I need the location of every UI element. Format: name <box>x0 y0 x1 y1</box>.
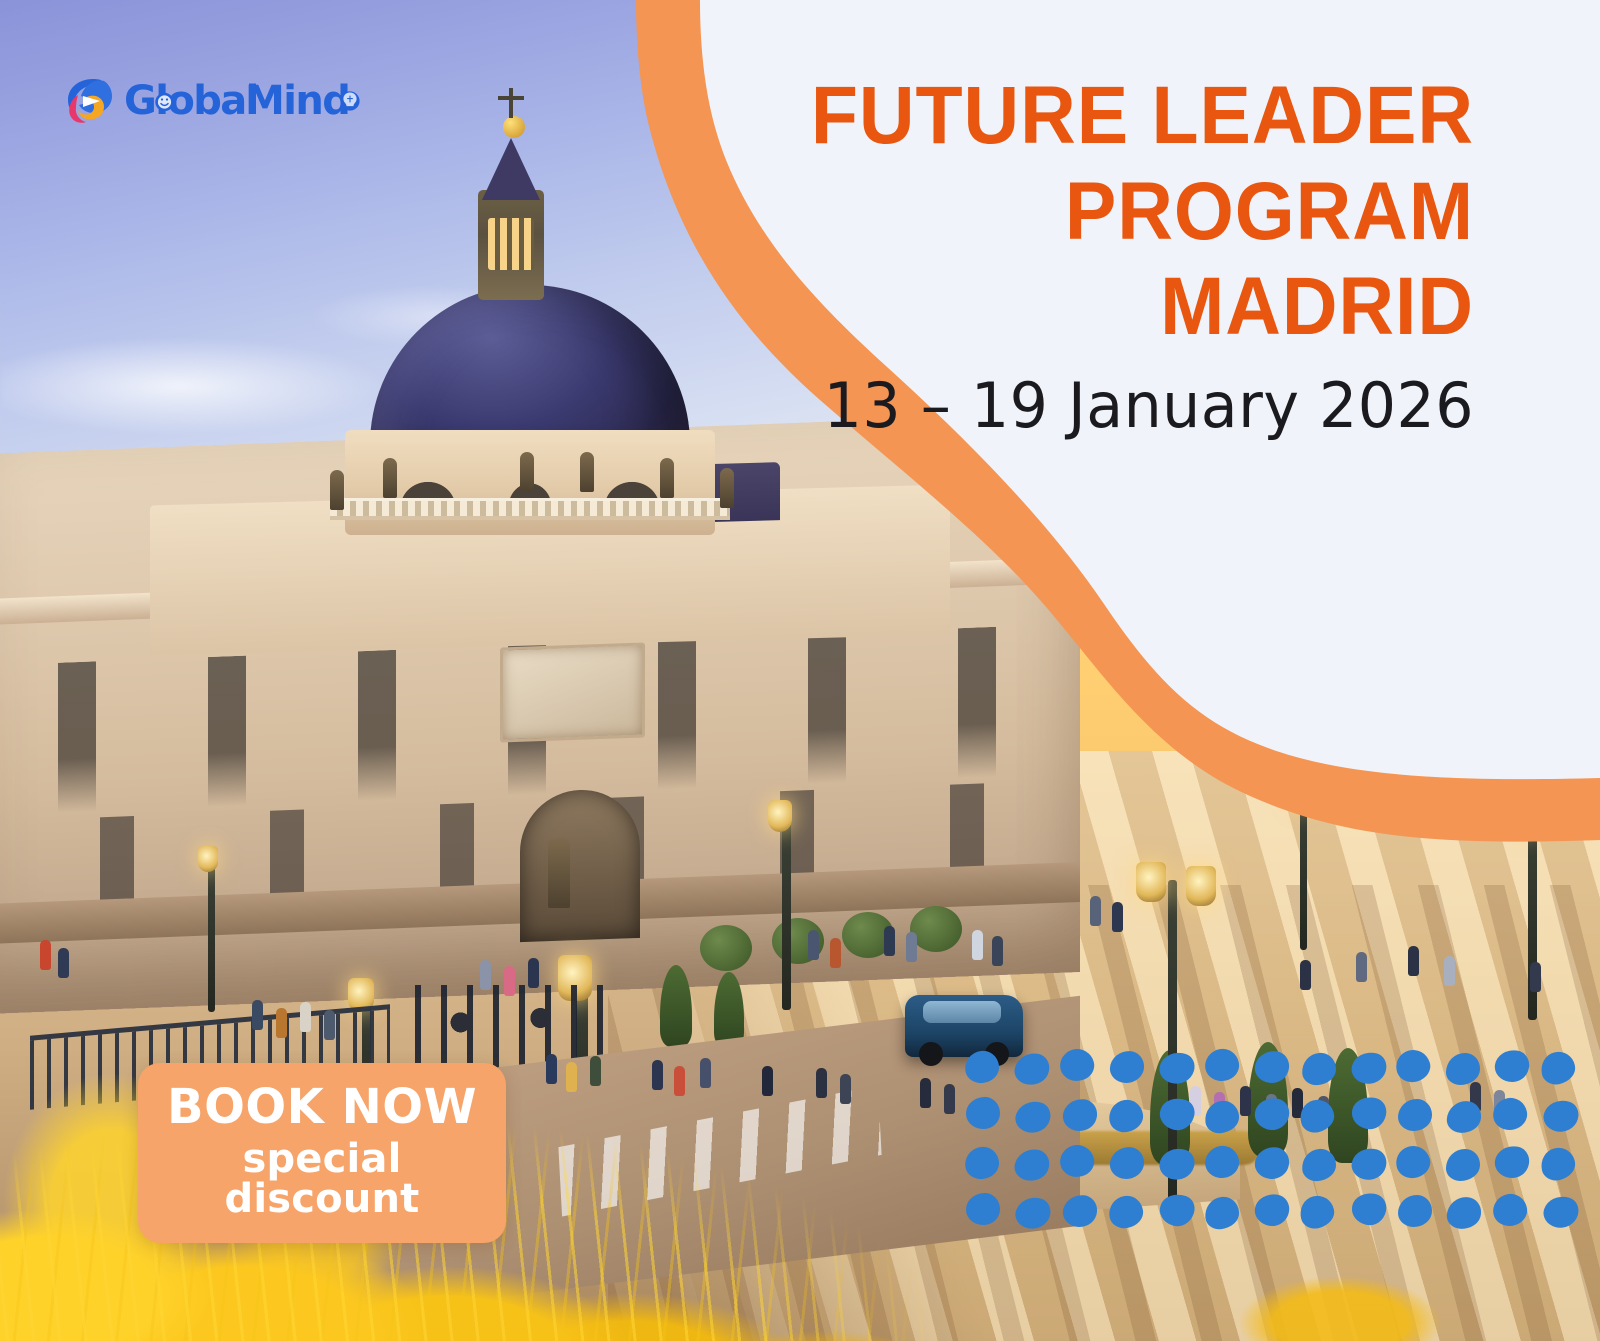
dot-grid-decoration <box>966 1051 1600 1271</box>
dot <box>1106 1097 1145 1134</box>
lightbulb-brain-icon <box>340 91 359 110</box>
dot <box>1297 1097 1338 1136</box>
dot <box>1349 1190 1389 1229</box>
promotional-poster: Global Mind FUTURE LEADER PROGRAM <box>0 0 1600 1341</box>
dot <box>1253 1095 1292 1132</box>
dot <box>1253 1049 1290 1085</box>
dot <box>1398 1099 1432 1131</box>
headline-line-2: PROGRAM <box>760 170 1474 254</box>
headline-block: FUTURE LEADER PROGRAM MADRID 13 – 19 Jan… <box>714 74 1474 442</box>
dot <box>963 1048 1001 1084</box>
dot <box>1253 1191 1292 1228</box>
dot <box>965 1193 1000 1226</box>
dot <box>1348 1144 1389 1183</box>
dot <box>1490 1191 1530 1229</box>
dot <box>1061 1098 1098 1133</box>
headline-line-3: MADRID <box>760 265 1474 349</box>
dot <box>1446 1149 1480 1181</box>
dot <box>1204 1099 1241 1134</box>
globalmind-logo[interactable]: Global Mind <box>60 72 370 130</box>
book-now-badge[interactable]: BOOK NOW special discount <box>138 1063 506 1243</box>
dot <box>1202 1047 1241 1085</box>
dot <box>1446 1053 1480 1085</box>
dot <box>1106 1193 1145 1230</box>
dot <box>1110 1146 1146 1180</box>
dot <box>1156 1189 1198 1230</box>
dot <box>1061 1193 1098 1228</box>
dot <box>1398 1195 1432 1227</box>
dot <box>1204 1195 1241 1230</box>
globalmind-g-swoosh-icon <box>60 72 118 130</box>
dot <box>1392 1046 1434 1087</box>
dot <box>1156 1144 1198 1185</box>
dot <box>1537 1049 1577 1088</box>
dot <box>1301 1052 1337 1086</box>
dot <box>1540 1096 1582 1136</box>
dot <box>1301 1148 1337 1182</box>
headline-line-1: FUTURE LEADER <box>760 74 1474 158</box>
dot <box>1540 1192 1582 1232</box>
dot <box>1493 1144 1531 1181</box>
special-discount-label: special discount <box>158 1139 486 1219</box>
dot <box>1537 1145 1577 1184</box>
event-dates: 13 – 19 January 2026 <box>737 369 1474 442</box>
logo-wordmark: Global Mind <box>124 77 370 125</box>
dot <box>1445 1100 1481 1134</box>
dot <box>1348 1048 1389 1087</box>
dot <box>1297 1193 1338 1232</box>
logo-text-global: Global <box>124 78 258 124</box>
dot <box>1202 1143 1241 1181</box>
dot <box>1349 1094 1389 1133</box>
dot <box>1445 1196 1481 1230</box>
dot <box>1253 1145 1290 1181</box>
dot <box>1110 1050 1146 1084</box>
book-now-label: BOOK NOW <box>158 1083 486 1131</box>
dot <box>1493 1048 1531 1085</box>
dot <box>1490 1095 1530 1133</box>
dot <box>1392 1141 1434 1182</box>
dot <box>1013 1050 1052 1088</box>
dot <box>1012 1193 1053 1233</box>
dot <box>1056 1141 1097 1181</box>
dot <box>1156 1093 1198 1134</box>
dot <box>963 1144 1001 1180</box>
dot <box>1156 1048 1198 1089</box>
dot <box>965 1097 1000 1130</box>
dot <box>1013 1146 1052 1184</box>
dot <box>1056 1045 1097 1085</box>
logo-text-mind: Mind <box>245 78 349 124</box>
dot <box>1012 1097 1053 1137</box>
